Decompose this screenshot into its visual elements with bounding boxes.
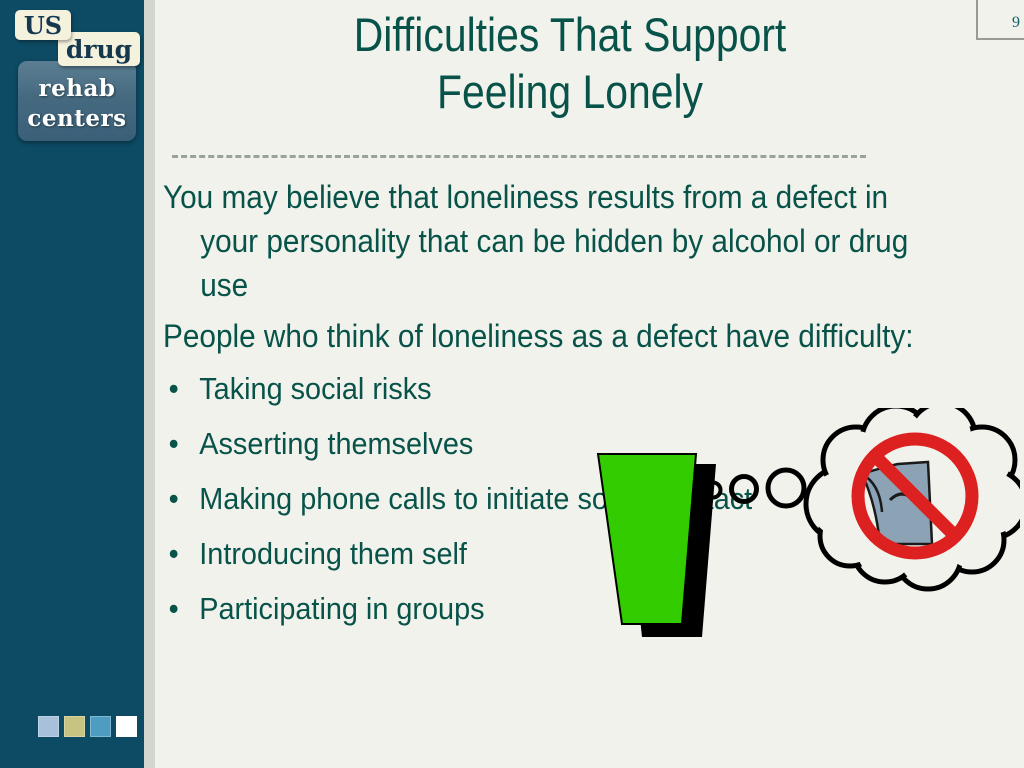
bullet-dot-icon: • [169, 422, 179, 466]
bullet-dot-icon: • [169, 532, 179, 576]
brand-logo[interactable]: rehab centers US drug [12, 6, 142, 138]
square-medium-blue [90, 716, 111, 737]
slide-canvas: rehab centers US drug 9 Difficulties Tha… [0, 0, 1024, 768]
logo-text-centers: centers [18, 105, 136, 132]
bullet-dot-icon: • [169, 587, 179, 631]
square-white [116, 716, 137, 737]
green-cup-icon [598, 454, 696, 624]
square-light-blue [38, 716, 59, 737]
bullet-label: Introducing them self [199, 536, 467, 571]
logo-text-rehab: rehab [18, 75, 136, 102]
sidebar-gutter [144, 0, 155, 768]
footer-squares [38, 716, 137, 737]
bullet-dot-icon: • [169, 367, 179, 411]
square-khaki [64, 716, 85, 737]
bullet-label: Asserting themselves [199, 426, 473, 461]
slide-title: Difficulties That Support Feeling Lonely [226, 6, 913, 121]
bullet-label: Taking social risks [199, 371, 431, 406]
paragraph-2: People who think of loneliness as a defe… [163, 315, 935, 359]
logo-tag-us: US [15, 10, 71, 40]
bullet-label: Participating in groups [199, 591, 484, 626]
page-number: 9 [978, 14, 1020, 32]
paragraph-1: You may believe that loneliness results … [163, 176, 935, 307]
thought-bubble-trail [706, 470, 805, 506]
title-divider [172, 155, 866, 158]
bullet-dot-icon: • [169, 477, 179, 521]
logo-panel: rehab centers [18, 61, 136, 141]
bullet-item: •Taking social risks [163, 367, 935, 411]
illustration [580, 408, 1020, 653]
page-number-box: 9 [976, 0, 1024, 40]
